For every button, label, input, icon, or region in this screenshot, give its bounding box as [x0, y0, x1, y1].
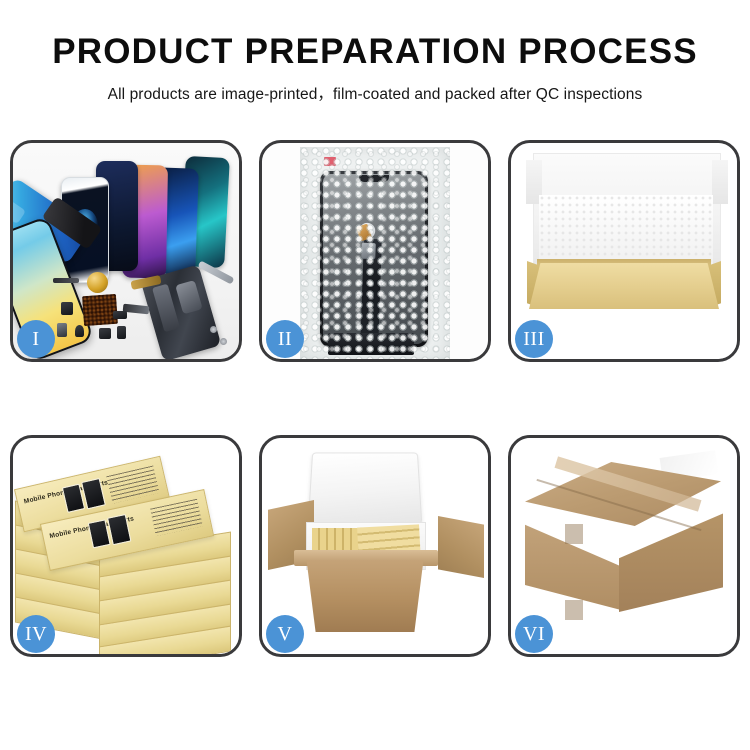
foam-sheet [539, 195, 713, 267]
spare-part-small-1 [61, 302, 73, 315]
carton-body [300, 560, 430, 632]
carton-flap-right [438, 516, 484, 578]
spare-part-bar [53, 278, 79, 283]
spare-part-small-3 [99, 328, 111, 339]
box-spec-lines-1 [106, 466, 159, 504]
step-panel-2: II [259, 140, 491, 362]
step-panel-6: VI [508, 435, 740, 657]
step-panel-1: I [10, 140, 242, 362]
carton-tab-upper [565, 524, 583, 544]
step-badge-3: III [515, 320, 553, 358]
step-badge-4: IV [17, 615, 55, 653]
carton-tab-lower [565, 600, 583, 620]
process-steps-grid: I [10, 140, 740, 680]
spare-part-small-6 [113, 311, 127, 319]
page-subtitle: All products are image-printed，film-coat… [0, 82, 750, 104]
screw-1 [220, 338, 227, 345]
spare-part-coin [87, 272, 108, 293]
step-badge-2: II [266, 320, 304, 358]
step-panel-4: Mobile Phone Spare Parts Mobile Phone Sp… [10, 435, 242, 657]
header: PRODUCT PREPARATION PROCESS All products… [0, 34, 750, 104]
kraft-box-front-panel [529, 263, 719, 309]
bubble-texture-back [300, 147, 450, 359]
step-badge-1: I [17, 320, 55, 358]
screw-2 [210, 326, 217, 333]
product-preparation-infographic: PRODUCT PREPARATION PROCESS All products… [0, 0, 750, 750]
step-panel-5: V [259, 435, 491, 657]
step-panel-3: III [508, 140, 740, 362]
step-badge-5: V [266, 615, 304, 653]
step-badge-6: VI [515, 615, 553, 653]
bubble-wrap-bag [300, 147, 450, 359]
spare-part-small-5 [57, 323, 67, 337]
box-spec-lines-2 [150, 499, 203, 536]
spare-parts-mat [82, 294, 118, 326]
spare-part-small-4 [117, 326, 126, 339]
page-title: PRODUCT PREPARATION PROCESS [0, 34, 750, 71]
spare-part-small-2 [75, 325, 84, 337]
foam-lid [308, 453, 423, 525]
